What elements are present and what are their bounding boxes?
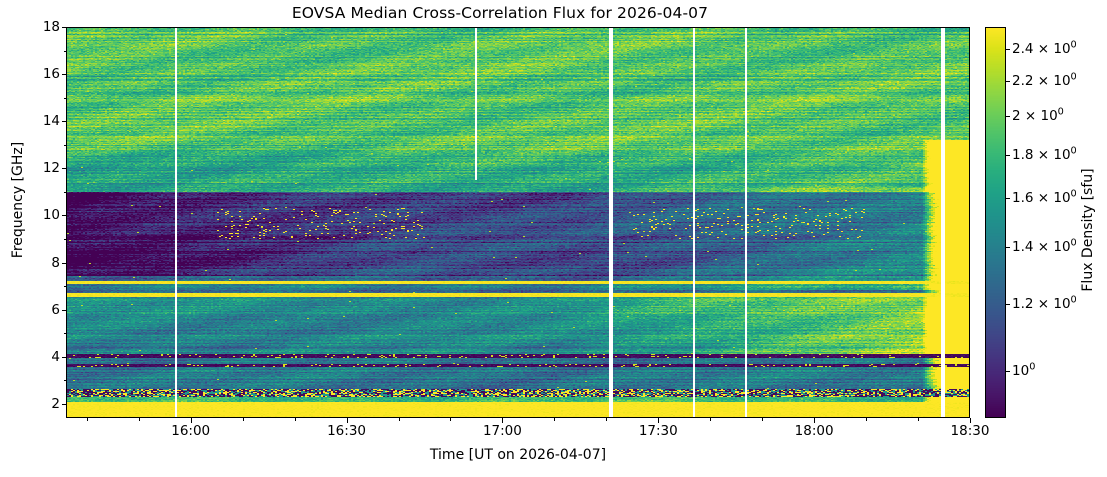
x-tick-label: 16:00	[156, 423, 226, 439]
y-tick-label: 18	[20, 19, 60, 35]
spectrogram-image	[67, 28, 969, 417]
x-minor-tick-mark	[554, 418, 555, 421]
x-minor-tick-mark	[450, 418, 451, 421]
y-tick-label: 10	[20, 207, 60, 223]
y-tick-label: 14	[20, 113, 60, 129]
colorbar-label-text: Flux Density [sfu]	[1080, 168, 1096, 291]
colorbar-tick-label: 2.2 × 100	[1012, 73, 1077, 89]
x-minor-tick-mark	[710, 418, 711, 421]
y-tick-label: 4	[20, 349, 60, 365]
x-minor-tick-mark	[295, 418, 296, 421]
x-minor-tick-mark	[399, 418, 400, 421]
spectrogram-plot-area[interactable]	[66, 27, 970, 418]
y-tick-label: 6	[20, 302, 60, 318]
x-minor-tick-mark	[866, 418, 867, 421]
colorbar-tick-label: 2 × 100	[1012, 108, 1064, 124]
colorbar-tick-mark	[1006, 198, 1010, 199]
colorbar-tick-label: 1.6 × 100	[1012, 190, 1077, 206]
spectrogram-figure: EOVSA Median Cross-Correlation Flux for …	[0, 0, 1107, 477]
colorbar-tick-mark	[1006, 116, 1010, 117]
x-minor-tick-mark	[918, 418, 919, 421]
colorbar-tick-label: 1.4 × 100	[1012, 239, 1077, 255]
x-minor-tick-mark	[762, 418, 763, 421]
x-minor-tick-mark	[243, 418, 244, 421]
x-minor-tick-mark	[87, 418, 88, 421]
colorbar-tick-mark	[1006, 155, 1010, 156]
y-axis-label-text: Frequency [GHz]	[10, 142, 26, 258]
y-tick-label: 16	[20, 66, 60, 82]
colorbar-gradient	[986, 28, 1005, 417]
x-tick-mark	[658, 418, 659, 423]
colorbar-tick-mark	[1006, 247, 1010, 248]
colorbar-tick-label: 100	[1012, 363, 1035, 379]
colorbar-tick-mark	[1006, 81, 1010, 82]
x-tick-label: 18:30	[935, 423, 1005, 439]
x-minor-tick-mark	[606, 418, 607, 421]
x-tick-label: 17:00	[467, 423, 537, 439]
y-tick-label: 8	[20, 255, 60, 271]
colorbar-label: Flux Density [sfu]	[1078, 130, 1098, 330]
colorbar-tick-label: 2.4 × 100	[1012, 41, 1077, 57]
x-axis-label: Time [UT on 2026-04-07]	[66, 447, 970, 463]
colorbar-tick-mark	[1006, 304, 1010, 305]
x-tick-label: 16:30	[312, 423, 382, 439]
y-tick-label: 12	[20, 160, 60, 176]
colorbar-tick-mark	[1006, 49, 1010, 50]
x-tick-label: 18:00	[779, 423, 849, 439]
colorbar-tick-mark	[1006, 371, 1010, 372]
x-minor-tick-mark	[139, 418, 140, 421]
x-tick-mark	[191, 418, 192, 423]
x-tick-label: 17:30	[623, 423, 693, 439]
x-tick-mark	[347, 418, 348, 423]
colorbar-tick-label: 1.2 × 100	[1012, 296, 1077, 312]
x-tick-mark	[970, 418, 971, 423]
x-tick-mark	[814, 418, 815, 423]
y-tick-label: 2	[20, 396, 60, 412]
page-title: EOVSA Median Cross-Correlation Flux for …	[0, 4, 1000, 22]
colorbar[interactable]	[985, 27, 1006, 418]
colorbar-tick-label: 1.8 × 100	[1012, 147, 1077, 163]
x-tick-mark	[502, 418, 503, 423]
